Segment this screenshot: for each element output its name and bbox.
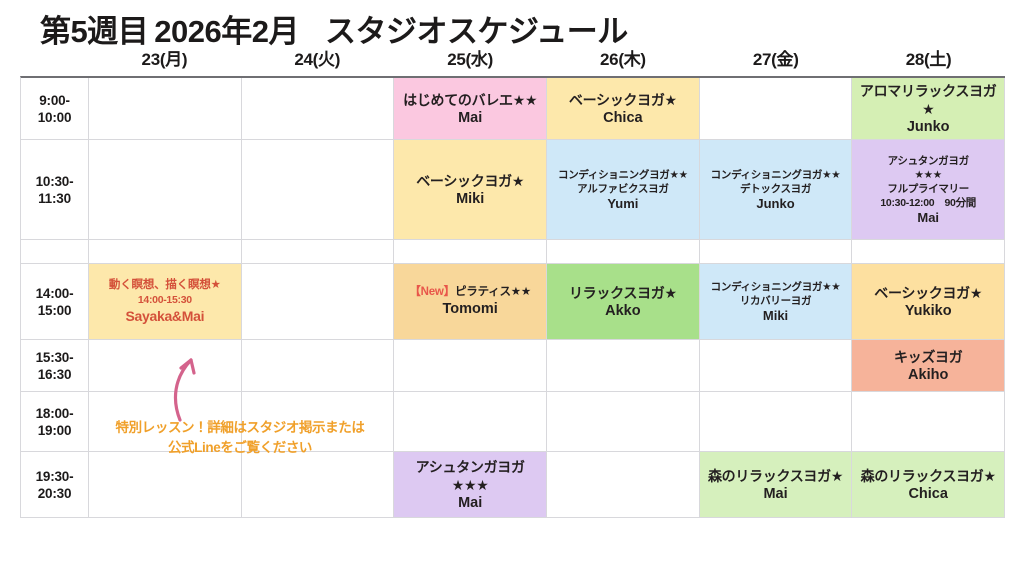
instructor-name: Yumi — [607, 196, 638, 212]
class-name: ベーシックヨガ★ — [416, 172, 524, 190]
class-name: アルファビクスヨガ — [577, 182, 668, 196]
day-header-tue: 24(火) — [241, 48, 394, 74]
class-cell-thu-2[interactable]: コンディショニングヨガ★★アルファビクスヨガYumi — [547, 140, 700, 240]
time-label-5: 15:30-16:30 — [21, 340, 89, 392]
instructor-name: Mai — [917, 210, 939, 226]
empty-cell-tue-3 — [242, 240, 395, 264]
instructor-name: Junko — [756, 196, 794, 212]
empty-cell-thu-5 — [547, 340, 700, 392]
instructor-name: Akiho — [908, 366, 948, 384]
time-label-1: 9:00-10:00 — [21, 78, 89, 140]
day-header-fri: 27(金) — [699, 48, 852, 74]
instructor-name: Junko — [907, 118, 950, 136]
class-name: 森のリラックスヨガ★ — [861, 467, 996, 485]
class-name: コンディショニングヨガ★★ — [711, 168, 841, 182]
class-name: はじめてのバレエ★★ — [403, 91, 537, 109]
instructor-name: Yukiko — [905, 302, 952, 320]
time-start: 15:30- — [36, 349, 74, 366]
class-cell-thu-4[interactable]: リラックスヨガ★Akko — [547, 264, 700, 340]
empty-cell-mon-6 — [89, 392, 242, 452]
time-end: 20:30 — [38, 485, 72, 502]
empty-cell-mon-1 — [89, 78, 242, 140]
empty-cell-wed-6 — [394, 392, 547, 452]
class-name: フルプライマリー — [887, 182, 969, 196]
class-name: 10:30-12:00 90分間 — [880, 196, 976, 210]
empty-cell-mon-5 — [89, 340, 242, 392]
empty-cell-wed-3 — [394, 240, 547, 264]
schedule-grid: 9:00-10:00はじめてのバレエ★★Maiベーシックヨガ★Chicaアロマリ… — [20, 76, 1005, 518]
class-name: アシュタンガヨガ★★★ — [397, 458, 543, 494]
time-start: 18:00- — [36, 405, 74, 422]
class-name: リカバリーヨガ — [740, 294, 811, 308]
class-cell-sat-1[interactable]: アロマリラックスヨガ★Junko — [852, 78, 1005, 140]
schedule-page: 第5週目2026年2月スタジオスケジュール 23(月) 24(火) 25(水) … — [0, 0, 1024, 576]
day-header-spacer — [20, 48, 88, 74]
class-cell-sat-7[interactable]: 森のリラックスヨガ★Chica — [852, 452, 1005, 518]
schedule-row: 14:00-15:00動く瞑想、描く瞑想★14:00-15:30Sayaka&M… — [21, 264, 1005, 340]
class-cell-mon-4[interactable]: 動く瞑想、描く瞑想★14:00-15:30Sayaka&Mai — [89, 264, 242, 340]
empty-cell-tue-7 — [242, 452, 395, 518]
class-cell-fri-2[interactable]: コンディショニングヨガ★★デトックスヨガJunko — [700, 140, 853, 240]
day-header-mon: 23(月) — [88, 48, 241, 74]
day-header-row: 23(月) 24(火) 25(水) 26(木) 27(金) 28(土) — [20, 48, 1005, 74]
class-name: 14:00-15:30 — [138, 293, 192, 307]
time-end: 11:30 — [38, 190, 71, 207]
class-name: 森のリラックスヨガ★ — [708, 467, 843, 485]
time-end: 16:30 — [38, 366, 72, 383]
time-label-3 — [21, 240, 89, 264]
instructor-name: Chica — [603, 109, 643, 127]
time-end: 19:00 — [38, 422, 72, 439]
empty-cell-tue-4 — [242, 264, 395, 340]
class-name: コンディショニングヨガ★★ — [711, 280, 841, 294]
empty-cell-thu-7 — [547, 452, 700, 518]
class-name: ★★★ — [915, 168, 942, 182]
title-main: スタジオスケジュール — [325, 14, 628, 49]
page-title: 第5週目2026年2月スタジオスケジュール — [0, 6, 1024, 51]
class-name: アシュタンガヨガ — [888, 154, 969, 168]
class-name: 動く瞑想、描く瞑想★ — [109, 278, 221, 293]
time-label-4: 14:00-15:00 — [21, 264, 89, 340]
schedule-row: 9:00-10:00はじめてのバレエ★★Maiベーシックヨガ★Chicaアロマリ… — [21, 78, 1005, 140]
instructor-name: Akko — [605, 302, 640, 320]
empty-cell-mon-2 — [89, 140, 242, 240]
empty-cell-fri-5 — [700, 340, 853, 392]
class-name: 【New】ピラティス★★ — [409, 285, 531, 300]
day-header-sat: 28(土) — [852, 48, 1005, 74]
title-week: 第5週目 — [40, 14, 148, 49]
instructor-name: Sayaka&Mai — [125, 307, 204, 325]
class-name: キッズヨガ — [894, 348, 963, 366]
time-end: 10:00 — [38, 109, 72, 126]
empty-cell-sat-3 — [852, 240, 1005, 264]
empty-cell-tue-2 — [242, 140, 395, 240]
new-badge: 【New】 — [409, 286, 455, 298]
class-cell-fri-7[interactable]: 森のリラックスヨガ★Mai — [700, 452, 853, 518]
instructor-name: Mai — [458, 494, 482, 512]
class-cell-sat-5[interactable]: キッズヨガAkiho — [852, 340, 1005, 392]
class-cell-wed-7[interactable]: アシュタンガヨガ★★★Mai — [394, 452, 547, 518]
class-cell-wed-2[interactable]: ベーシックヨガ★Miki — [394, 140, 547, 240]
time-label-2: 10:30-11:30 — [21, 140, 89, 240]
empty-cell-fri-6 — [700, 392, 853, 452]
instructor-name: Chica — [908, 485, 948, 503]
empty-cell-tue-6 — [242, 392, 395, 452]
empty-cell-mon-3 — [89, 240, 242, 264]
class-name: アロマリラックスヨガ★ — [855, 82, 1001, 118]
class-cell-wed-4[interactable]: 【New】ピラティス★★Tomomi — [394, 264, 547, 340]
class-cell-sat-2[interactable]: アシュタンガヨガ★★★フルプライマリー10:30-12:00 90分間Mai — [852, 140, 1005, 240]
instructor-name: Tomomi — [443, 300, 498, 318]
empty-cell-sat-6 — [852, 392, 1005, 452]
title-month: 2026年2月 — [154, 14, 299, 49]
instructor-name: Miki — [456, 190, 484, 208]
class-cell-sat-4[interactable]: ベーシックヨガ★Yukiko — [852, 264, 1005, 340]
instructor-name: Miki — [763, 308, 788, 324]
time-start: 10:30- — [36, 173, 74, 190]
time-start: 9:00- — [39, 92, 70, 109]
empty-cell-thu-3 — [547, 240, 700, 264]
empty-cell-fri-1 — [700, 78, 853, 140]
empty-cell-tue-5 — [242, 340, 395, 392]
time-start: 14:00- — [36, 285, 74, 302]
class-name: コンディショニングヨガ★★ — [558, 168, 688, 182]
schedule-row — [21, 240, 1005, 264]
empty-cell-thu-6 — [547, 392, 700, 452]
instructor-name: Mai — [458, 109, 482, 127]
class-cell-thu-1[interactable]: ベーシックヨガ★Chica — [547, 78, 700, 140]
schedule-row: 10:30-11:30ベーシックヨガ★Mikiコンディショニングヨガ★★アルファ… — [21, 140, 1005, 240]
schedule-row: 18:00-19:00 — [21, 392, 1005, 452]
day-header-wed: 25(水) — [394, 48, 547, 74]
schedule-row: 19:30-20:30アシュタンガヨガ★★★Mai森のリラックスヨガ★Mai森の… — [21, 452, 1005, 518]
empty-cell-mon-7 — [89, 452, 242, 518]
class-name: デトックスヨガ — [740, 182, 811, 196]
day-header-thu: 26(木) — [546, 48, 699, 74]
time-label-6: 18:00-19:00 — [21, 392, 89, 452]
time-start: 19:30- — [36, 468, 74, 485]
time-label-7: 19:30-20:30 — [21, 452, 89, 518]
empty-cell-wed-5 — [394, 340, 547, 392]
time-end: 15:00 — [38, 302, 72, 319]
class-name: ベーシックヨガ★ — [569, 91, 677, 109]
schedule-row: 15:30-16:30キッズヨガAkiho — [21, 340, 1005, 392]
empty-cell-tue-1 — [242, 78, 395, 140]
empty-cell-fri-3 — [700, 240, 853, 264]
class-name: ベーシックヨガ★ — [874, 284, 982, 302]
class-cell-wed-1[interactable]: はじめてのバレエ★★Mai — [394, 78, 547, 140]
class-cell-fri-4[interactable]: コンディショニングヨガ★★リカバリーヨガMiki — [700, 264, 853, 340]
class-name: リラックスヨガ★ — [569, 284, 677, 302]
instructor-name: Mai — [763, 485, 787, 503]
